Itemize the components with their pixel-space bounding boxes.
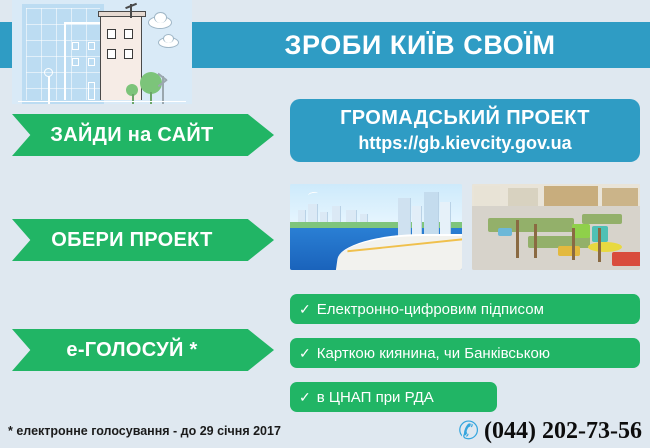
step-evote[interactable]: е-ГОЛОСУЙ * [12,329,274,371]
method-digital-signature[interactable]: ✓ Електронно-цифровим підписом [290,294,640,324]
footnote-text: * електронне голосування - до 29 січня 2… [8,424,281,438]
cloud-icon [148,16,172,29]
check-icon: ✓ [299,390,311,404]
step-choose-project-label: ОБЕРИ ПРОЕКТ [51,229,212,252]
cloud-icon [158,37,179,48]
public-project-site-box[interactable]: ГРОМАДСЬКИЙ ПРОЕКТ https://gb.kievcity.g… [290,99,640,162]
city-buildings-illustration [12,0,192,104]
step-visit-site-label: ЗАЙДИ на САЙТ [50,124,213,147]
page-title: ЗРОБИ КИЇВ СВОЇМ [190,22,650,68]
tree-trunk [132,94,134,104]
phone-number: (044) 202-73-56 [484,418,642,445]
check-icon: ✓ [299,302,311,316]
tree-trunk [150,92,152,104]
method-kyiv-card[interactable]: ✓ Карткою киянина, чи Банківською [290,338,640,368]
method-cnap[interactable]: ✓ в ЦНАП при РДА [290,382,497,412]
method-kyiv-card-label: Карткою киянина, чи Банківською [317,345,550,362]
poster-root: ЗРОБИ КИЇВ СВОЇМ ЗАЙДИ на [0,0,650,448]
contact-phone[interactable]: ✆ (044) 202-73-56 [458,418,642,445]
site-box-title: ГРОМАДСЬКИЙ ПРОЕКТ [290,106,640,131]
method-cnap-label: в ЦНАП при РДА [317,389,434,406]
phone-handset-icon: ✆ [458,419,479,444]
antenna-icon [130,4,132,18]
check-icon: ✓ [299,346,311,360]
step-choose-project[interactable]: ОБЕРИ ПРОЕКТ [12,219,274,261]
step-visit-site[interactable]: ЗАЙДИ на САЙТ [12,114,274,156]
site-box-url[interactable]: https://gb.kievcity.gov.ua [290,131,640,155]
step-evote-label: е-ГОЛОСУЙ * [66,339,197,362]
method-digital-signature-label: Електронно-цифровим підписом [317,301,544,318]
blueprint-building-icon [64,22,102,100]
photo-playground-park [472,184,640,270]
ground-line [18,101,186,103]
photo-city-riverfront [290,184,462,270]
